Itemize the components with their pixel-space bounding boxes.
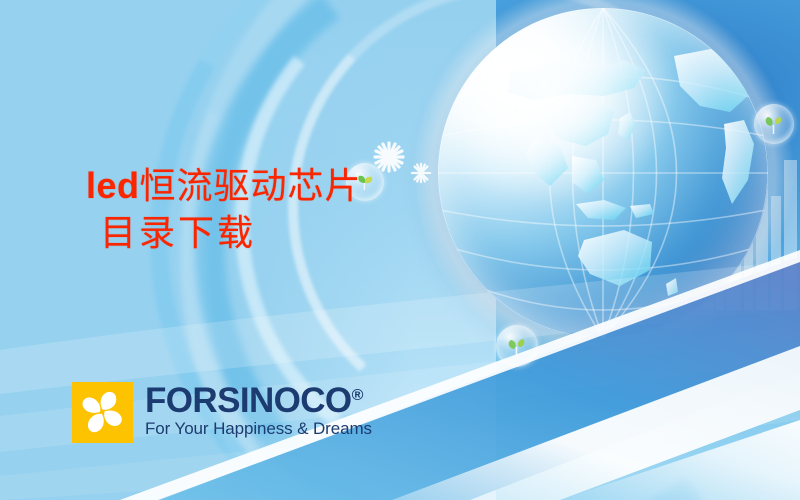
headline-line-2: 目录下载 [86,210,362,257]
headline-latin: led [86,165,140,206]
brand-logo: FORSINOCO® For Your Happiness & Dreams [72,382,372,443]
pinwheel-flower-icon [72,382,133,443]
earth-globe-icon [438,8,768,338]
brand-name: FORSINOCO® [145,383,372,418]
brand-name-text: FORSINOCO [145,381,352,420]
headline-line-1: led恒流驱动芯片 [86,163,362,210]
brand-tagline: For Your Happiness & Dreams [145,420,372,439]
pinwheel-petals [72,382,133,443]
brand-text: FORSINOCO® For Your Happiness & Dreams [145,382,372,439]
headline: led恒流驱动芯片 目录下载 [86,163,362,257]
headline-cn: 恒流驱动芯片 [140,166,362,206]
globe-continents [438,8,768,338]
registered-mark: ® [352,387,364,404]
promo-banner: led恒流驱动芯片 目录下载 FORSINOCO® For Your Happi… [0,0,800,500]
globe-sphere [438,8,768,338]
